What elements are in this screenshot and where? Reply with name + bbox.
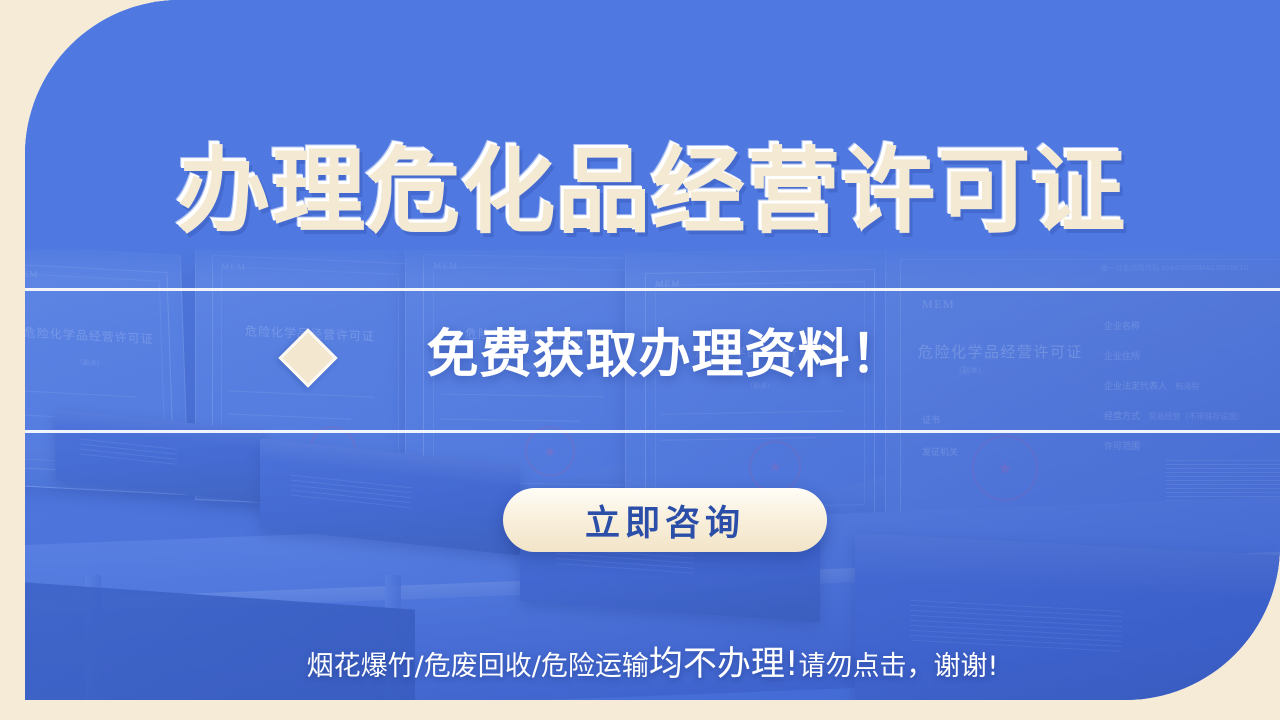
subtitle: 免费获取办理资料！ (355, 326, 975, 386)
disclaimer-text: 烟花爆竹/危废回收/危险运输均不办理!请勿点击，谢谢! (25, 636, 1280, 685)
disclaimer-part-request: 请勿点击，谢谢! (799, 651, 999, 682)
page-title: 办理危化品经营许可证 (25, 146, 1280, 239)
disclaimer-part-excluded-services: 烟花爆竹/危废回收/危险运输 (307, 651, 649, 682)
photo-top-fade (25, 240, 1280, 280)
divider-rule-top (25, 288, 1280, 291)
blue-panel: MEM 危险化学品经营许可证 （副本） ★ MEM 危险化学品经营许可证 （副本… (25, 0, 1280, 700)
disclaimer-part-emphasis: 均不办理! (649, 644, 799, 684)
divider-rule-bottom (25, 430, 1280, 433)
banner-canvas: MEM 危险化学品经营许可证 （副本） ★ MEM 危险化学品经营许可证 （副本… (0, 0, 1280, 720)
consult-now-button[interactable]: 立即咨询 (503, 488, 827, 552)
